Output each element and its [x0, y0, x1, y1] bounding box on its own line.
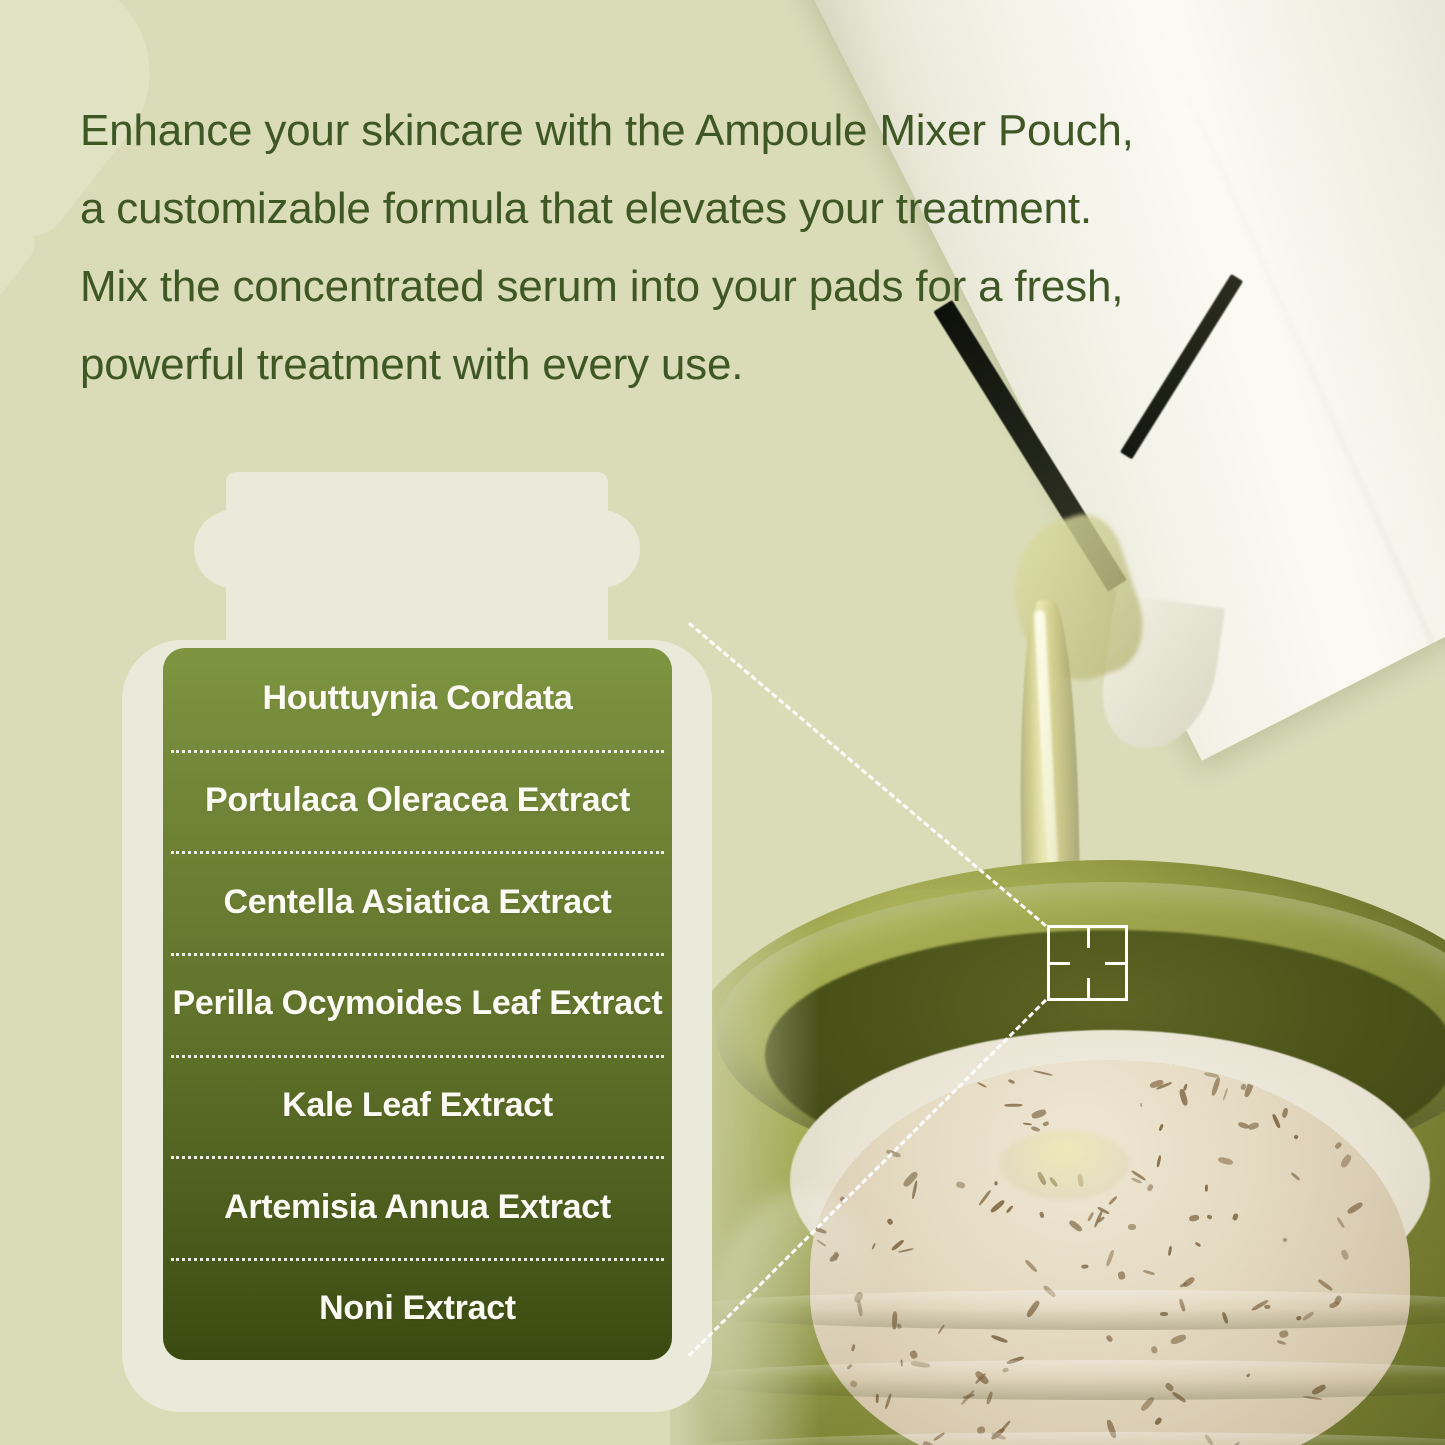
headline-line-3: Mix the concentrated serum into your pad… — [80, 248, 1400, 326]
list-item: Kale Leaf Extract — [163, 1055, 672, 1157]
ingredient-label: Artemisia Annua Extract — [224, 1188, 611, 1227]
list-item: Centella Asiatica Extract — [163, 851, 672, 953]
ingredient-label: Houttuynia Cordata — [262, 679, 572, 718]
promo-canvas: Enhance your skincare with the Ampoule M… — [0, 0, 1445, 1445]
ingredient-label: Kale Leaf Extract — [282, 1086, 553, 1125]
ingredient-label: Portulaca Oleracea Extract — [205, 781, 630, 820]
page-title: Enhance your skincare with the Ampoule M… — [80, 92, 1400, 404]
ingredient-list: Houttuynia Cordata Portulaca Oleracea Ex… — [163, 648, 672, 1360]
list-item: Artemisia Annua Extract — [163, 1156, 672, 1258]
zoom-focus-frame-icon — [1047, 925, 1128, 1001]
ingredient-label: Noni Extract — [319, 1289, 516, 1328]
headline-line-4: powerful treatment with every use. — [80, 326, 1400, 404]
list-item: Portulaca Oleracea Extract — [163, 750, 672, 852]
headline-line-2: a customizable formula that elevates you… — [80, 170, 1400, 248]
list-item: Noni Extract — [163, 1258, 672, 1360]
headline-line-1: Enhance your skincare with the Ampoule M… — [80, 92, 1400, 170]
serum-splash — [1000, 1130, 1130, 1200]
ingredient-label: Centella Asiatica Extract — [223, 883, 611, 922]
ingredient-label: Perilla Ocymoides Leaf Extract — [173, 984, 663, 1023]
list-item: Houttuynia Cordata — [163, 648, 672, 750]
list-item: Perilla Ocymoides Leaf Extract — [163, 953, 672, 1055]
